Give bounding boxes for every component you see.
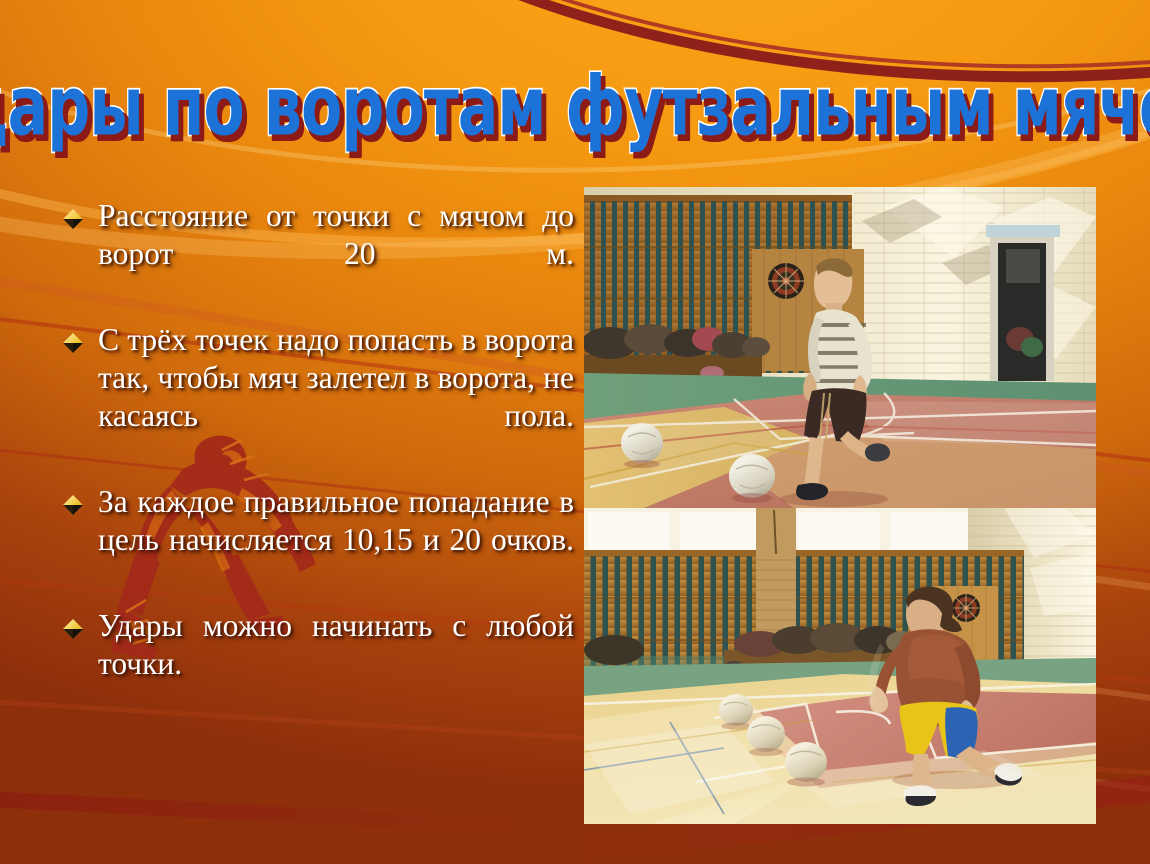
diamond-bullet-icon [62,618,84,640]
photo-stack [584,187,1096,824]
dartboard [768,263,804,299]
bullet-list: Расстояние от точки с мячом до ворот 20 … [62,197,574,730]
diamond-bullet-icon [62,208,84,230]
dartboard [952,594,980,622]
slide-title: удары по воротам футзальным мячом [0,65,1150,147]
diagonal-band-bottom-left [0,790,529,835]
list-item-label: С трёх точек надо попасть в ворота так, … [98,321,574,474]
ball [747,716,785,756]
ball [729,454,775,503]
list-item: Расстояние от точки с мячом до ворот 20 … [62,197,574,312]
diamond-bullet-icon [62,332,84,354]
list-item-label: Расстояние от точки с мячом до ворот 20 … [98,197,574,312]
slide-title-container: удары по воротам футзальным мячом [0,56,1150,156]
ball [719,694,753,730]
list-item-label: Удары можно начинать с любой точки. [98,607,574,722]
list-item: Удары можно начинать с любой точки. [62,607,574,722]
list-item: С трёх точек надо попасть в ворота так, … [62,321,574,474]
list-item: За каждое правильное попадание в цель на… [62,483,574,598]
list-item-label: За каждое правильное попадание в цель на… [98,483,574,598]
photo-top [584,187,1096,508]
photo-bottom [584,508,1096,824]
ball [785,742,827,787]
presentation-slide: удары по воротам футзальным мячом Рассто… [0,0,1150,864]
diamond-bullet-icon [62,494,84,516]
